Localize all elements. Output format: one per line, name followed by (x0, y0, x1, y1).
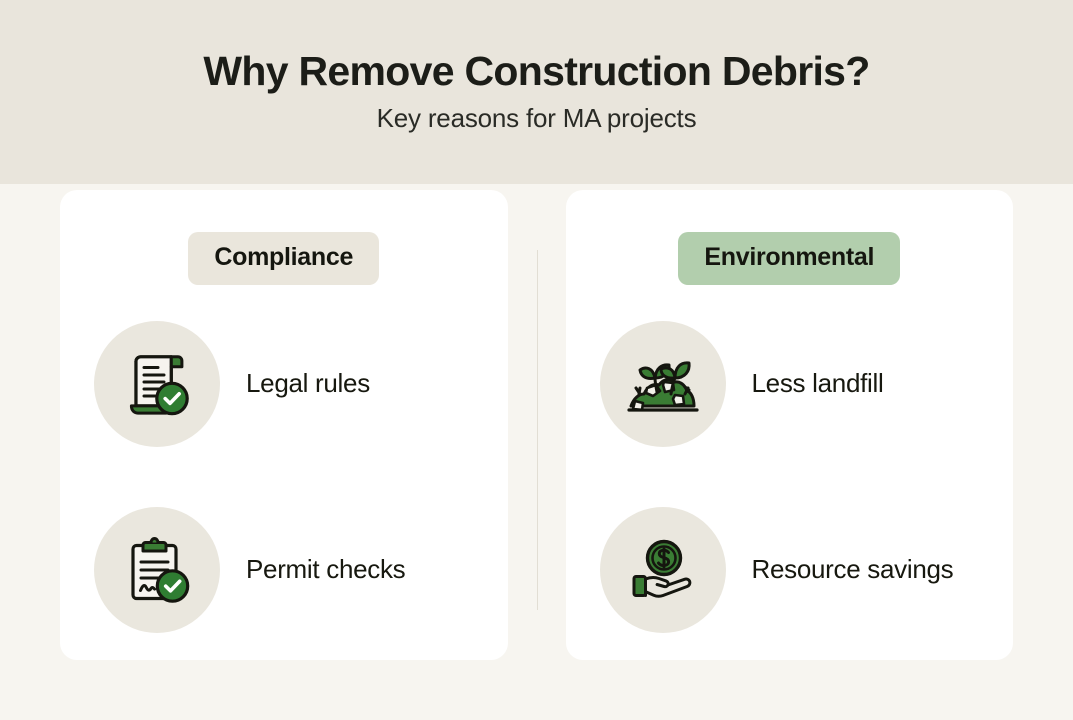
cards-container: Compliance (60, 190, 1013, 660)
list-item-label: Less landfill (752, 368, 884, 399)
list-item[interactable]: Less landfill (600, 321, 1014, 447)
list-item-label: Resource savings (752, 554, 954, 585)
item-list-environmental: Less landfill (566, 321, 1014, 633)
plants-in-rubble-icon (600, 321, 726, 447)
card-environmental: Environmental (566, 190, 1014, 660)
list-item-label: Permit checks (246, 554, 405, 585)
document-check-icon (94, 321, 220, 447)
list-item[interactable]: Resource savings (600, 507, 1014, 633)
list-item[interactable]: Legal rules (94, 321, 508, 447)
header-band: Why Remove Construction Debris? Key reas… (0, 0, 1073, 184)
item-list-compliance: Legal rules (60, 321, 508, 633)
list-item[interactable]: Permit checks (94, 507, 508, 633)
badge-environmental: Environmental (678, 232, 900, 285)
page-title: Why Remove Construction Debris? (203, 50, 869, 93)
list-item-label: Legal rules (246, 368, 370, 399)
card-compliance: Compliance (60, 190, 508, 660)
clipboard-check-icon (94, 507, 220, 633)
page-subtitle: Key reasons for MA projects (377, 103, 697, 134)
infographic-page: Why Remove Construction Debris? Key reas… (0, 0, 1073, 720)
hand-holding-coin-icon (600, 507, 726, 633)
badge-compliance: Compliance (188, 232, 379, 285)
